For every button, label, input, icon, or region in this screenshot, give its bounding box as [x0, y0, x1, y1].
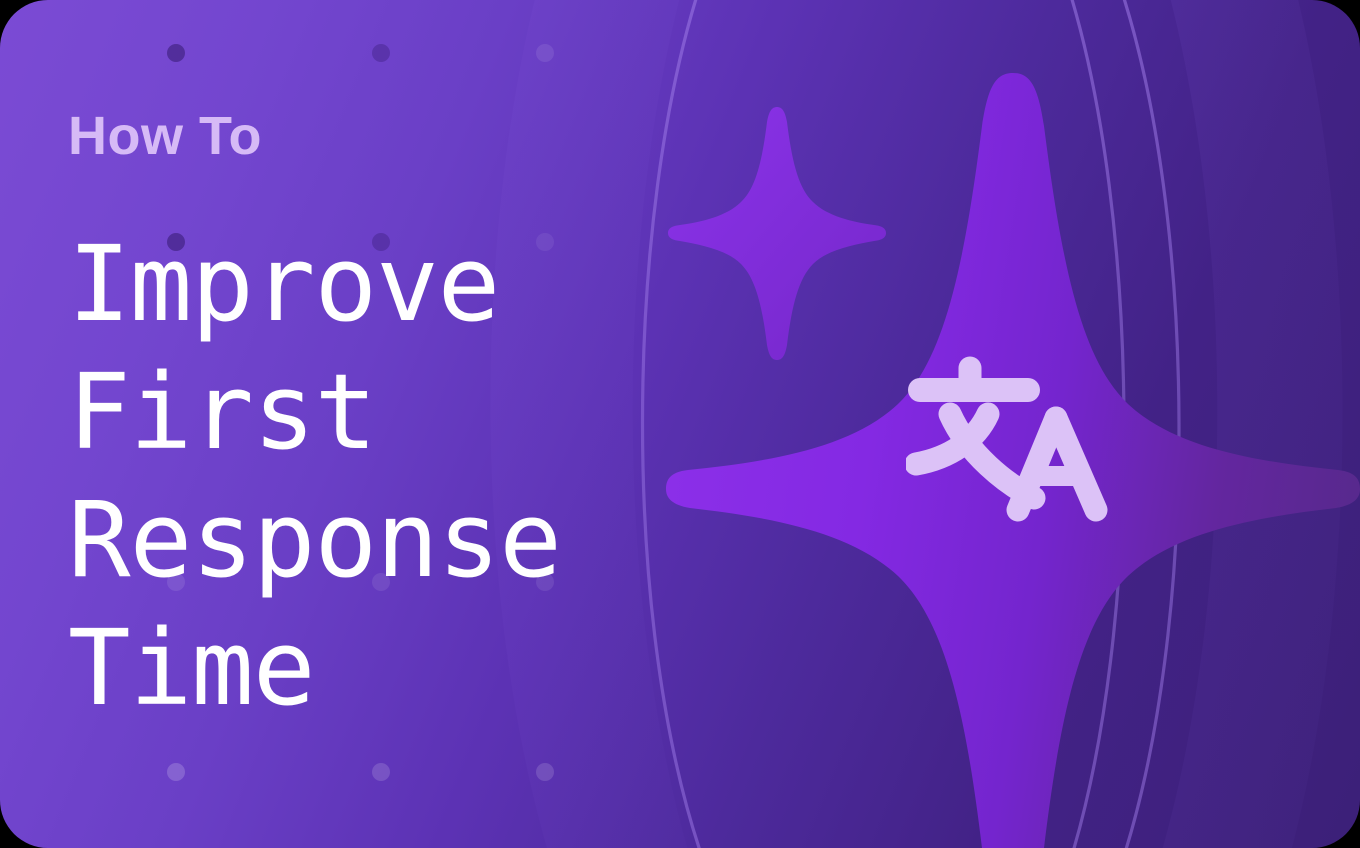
page-title: Improve First Response Time [68, 220, 688, 732]
headline-line-2: First [68, 348, 688, 476]
decorative-dot [372, 763, 390, 781]
decorative-dot [536, 763, 554, 781]
eyebrow-label: How To [68, 104, 688, 168]
headline-line-1: Improve [68, 220, 688, 348]
headline-line-3: Response [68, 476, 688, 604]
headline-block: How To Improve First Response Time [68, 104, 688, 732]
headline-line-4: Time [68, 604, 688, 732]
decorative-dot [536, 44, 554, 62]
sparkle-small-icon [668, 107, 886, 360]
translate-icon [906, 352, 1122, 528]
decorative-dot [167, 44, 185, 62]
how-to-card: How To Improve First Response Time [0, 0, 1360, 848]
decorative-dot [167, 763, 185, 781]
decorative-dot [372, 44, 390, 62]
